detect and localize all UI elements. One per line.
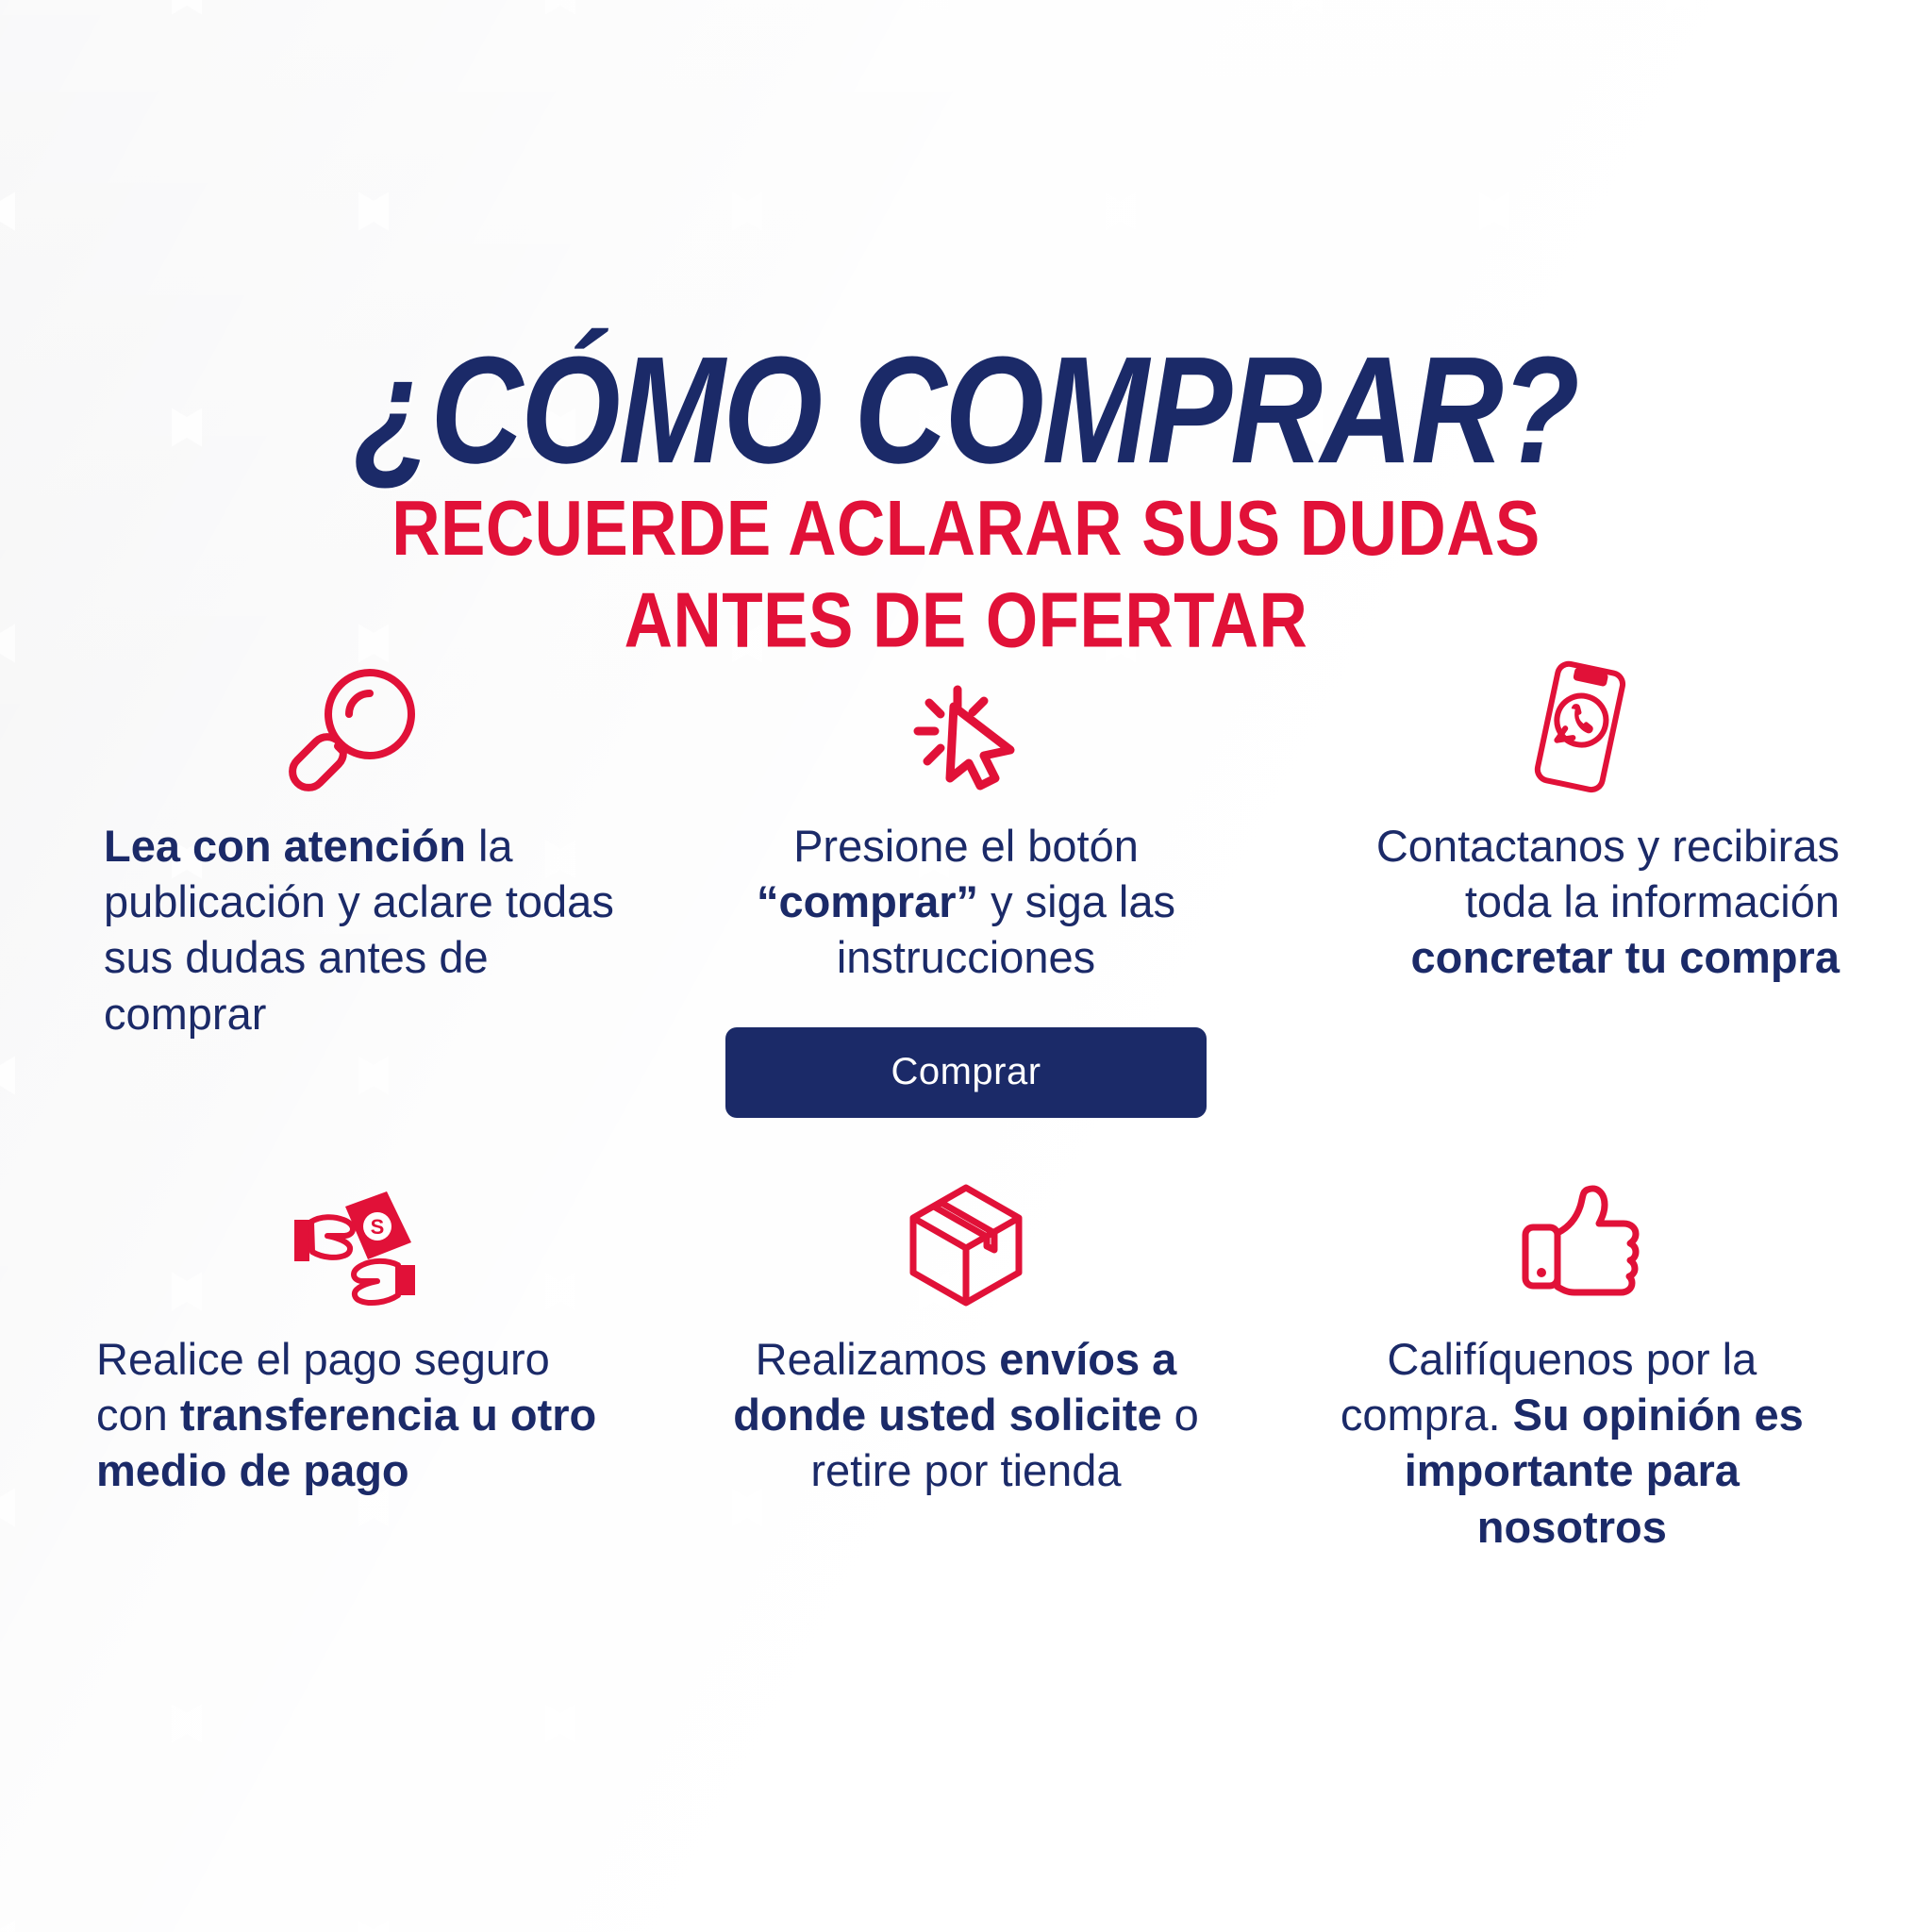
buy-button[interactable]: Comprar <box>725 1027 1207 1118</box>
header: ¿CÓMO COMPRAR? RECUERDE ACLARAR SUS DUDA… <box>0 0 1932 637</box>
steps-row-bottom: S Realice el pago seguro con transferenc… <box>47 1160 1885 1555</box>
step-text-shipping: Realizamos envíos a donde usted solicite… <box>659 1331 1272 1499</box>
cash-hands-icon: S <box>274 1174 434 1307</box>
step-text-press-buy: Presione el botón “comprar” y siga las i… <box>659 818 1272 986</box>
steps-row-top: Lea con atención la publicación y aclare… <box>47 651 1885 1160</box>
magnifier-icon-wrap <box>47 651 659 797</box>
buy-button-wrap: Comprar <box>659 1027 1272 1118</box>
svg-text:S: S <box>370 1215 384 1239</box>
page-subtitle: RECUERDE ACLARAR SUS DUDAS ANTES DE OFER… <box>39 387 1893 666</box>
step-text-read-publication: Lea con atención la publicación y aclare… <box>47 818 659 1041</box>
thumbs-up-icon-wrap <box>1273 1160 1885 1307</box>
whatsapp-phone-icon-wrap <box>1273 651 1885 797</box>
step-text-rate-us: Califíquenos por la compra. Su opinión e… <box>1273 1331 1885 1555</box>
package-box-icon-wrap <box>659 1160 1272 1307</box>
subtitle-line-1: RECUERDE ACLARAR SUS DUDAS <box>39 482 1893 575</box>
step-text-plain-1: Presione el botón <box>793 821 1139 871</box>
step-card-secure-payment: S Realice el pago seguro con transferenc… <box>47 1160 659 1555</box>
step-card-contact-us: Contactanos y recibiras toda la informac… <box>1273 651 1885 1160</box>
whatsapp-phone-icon <box>1517 656 1640 797</box>
steps-grid: Lea con atención la publicación y aclare… <box>47 651 1885 1555</box>
click-cursor-icon-wrap <box>659 651 1272 797</box>
step-text-bold: concretar tu compra <box>1411 932 1840 982</box>
click-cursor-icon <box>905 675 1027 797</box>
package-box-icon <box>900 1174 1032 1307</box>
step-text-bold: “comprar” <box>757 876 978 926</box>
step-card-rate-us: Califíquenos por la compra. Su opinión e… <box>1273 1160 1885 1555</box>
step-text-contact-us: Contactanos y recibiras toda la informac… <box>1273 818 1885 986</box>
step-text-plain: Contactanos y recibiras toda la informac… <box>1376 821 1840 926</box>
step-card-press-buy: Presione el botón “comprar” y siga las i… <box>659 651 1272 1160</box>
thumbs-up-icon <box>1512 1174 1644 1307</box>
step-card-read-publication: Lea con atención la publicación y aclare… <box>47 651 659 1160</box>
step-text-plain-1: Realizamos <box>756 1334 1000 1384</box>
step-text-secure-payment: Realice el pago seguro con transferencia… <box>47 1331 659 1499</box>
step-card-shipping: Realizamos envíos a donde usted solicite… <box>659 1160 1272 1555</box>
cash-hands-icon-wrap: S <box>47 1160 659 1307</box>
magnifier-icon <box>283 665 425 797</box>
step-text-bold: Lea con atención <box>104 821 466 871</box>
